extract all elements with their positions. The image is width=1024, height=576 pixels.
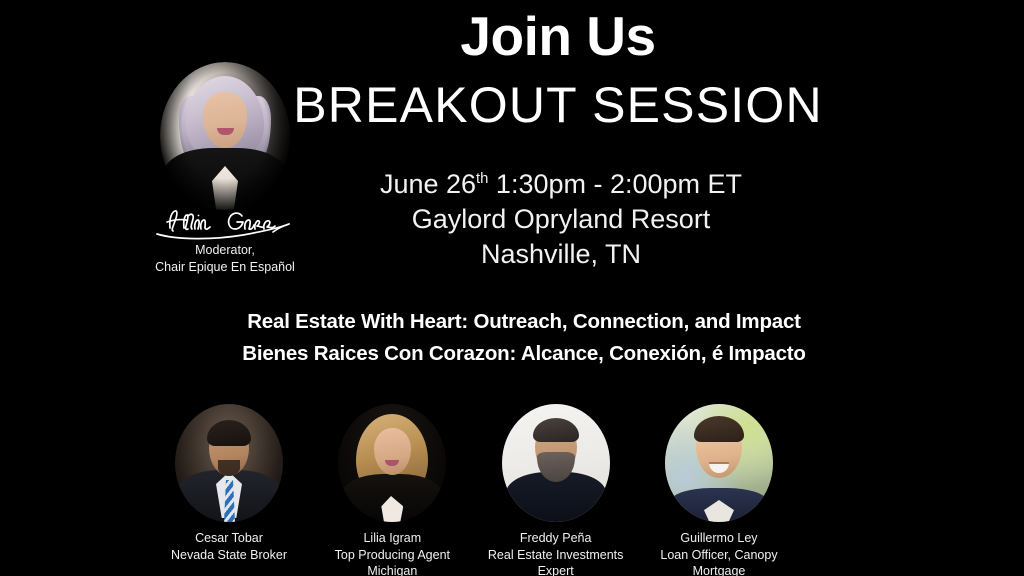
moderator-avatar [160,62,290,210]
event-time-range: 1:30pm - 2:00pm ET [488,169,742,199]
speaker-card: Lilia Igram Top Producing Agent Michigan [311,404,473,576]
event-city: Nashville, TN [296,237,826,272]
speaker-avatar-guillermo-ley [665,404,773,522]
moderator-block: Moderator, Chair Epique En Español [139,62,311,275]
session-title-block: Real Estate With Heart: Outreach, Connec… [0,306,1024,370]
moderator-signature [139,204,311,240]
event-venue: Gaylord Opryland Resort [296,202,826,237]
event-date-time: June 26th 1:30pm - 2:00pm ET [296,167,826,202]
session-title-english: Real Estate With Heart: Outreach, Connec… [24,306,1024,338]
speaker-name: Guillermo Ley [638,530,800,547]
page-title-join-us: Join Us [0,8,1024,66]
speaker-role: Top Producing Agent [335,547,450,564]
speaker-avatar-cesar-tobar [175,404,283,522]
speaker-card: Guillermo Ley Loan Officer, Canopy Mortg… [638,404,800,576]
speaker-caption: Freddy Peña Real Estate Investments Expe… [475,530,637,576]
event-date-ordinal: th [476,171,488,187]
moderator-caption: Moderator, Chair Epique En Español [139,242,311,275]
moderator-role-line1: Moderator, [139,242,311,259]
speaker-avatar-lilia-igram [338,404,446,522]
moderator-role-line2: Chair Epique En Español [139,259,311,276]
speaker-card: Cesar Tobar Nevada State Broker [148,404,310,576]
speaker-name: Cesar Tobar [171,530,287,547]
speaker-caption: Lilia Igram Top Producing Agent Michigan [335,530,450,576]
speaker-role: Loan Officer, Canopy Mortgage [638,547,800,576]
event-date: June 26 [380,169,476,199]
flyer-canvas: Join Us BREAKOUT SESSION June 26th 1:30p… [0,0,1024,576]
goatee [218,460,240,476]
speaker-caption: Cesar Tobar Nevada State Broker [171,530,287,563]
speaker-name: Freddy Peña [475,530,637,547]
speaker-caption: Guillermo Ley Loan Officer, Canopy Mortg… [638,530,800,576]
speaker-name: Lilia Igram [335,530,450,547]
event-details: June 26th 1:30pm - 2:00pm ET Gaylord Opr… [296,167,826,272]
speaker-card: Freddy Peña Real Estate Investments Expe… [475,404,637,576]
speakers-row: Cesar Tobar Nevada State Broker Lilia Ig… [148,404,800,576]
session-title-spanish: Bienes Raices Con Corazon: Alcance, Cone… [24,338,1024,370]
speaker-location: Michigan [335,563,450,576]
speaker-role: Real Estate Investments Expert [475,547,637,576]
speaker-role: Nevada State Broker [171,547,287,564]
speaker-avatar-freddy-pena [502,404,610,522]
